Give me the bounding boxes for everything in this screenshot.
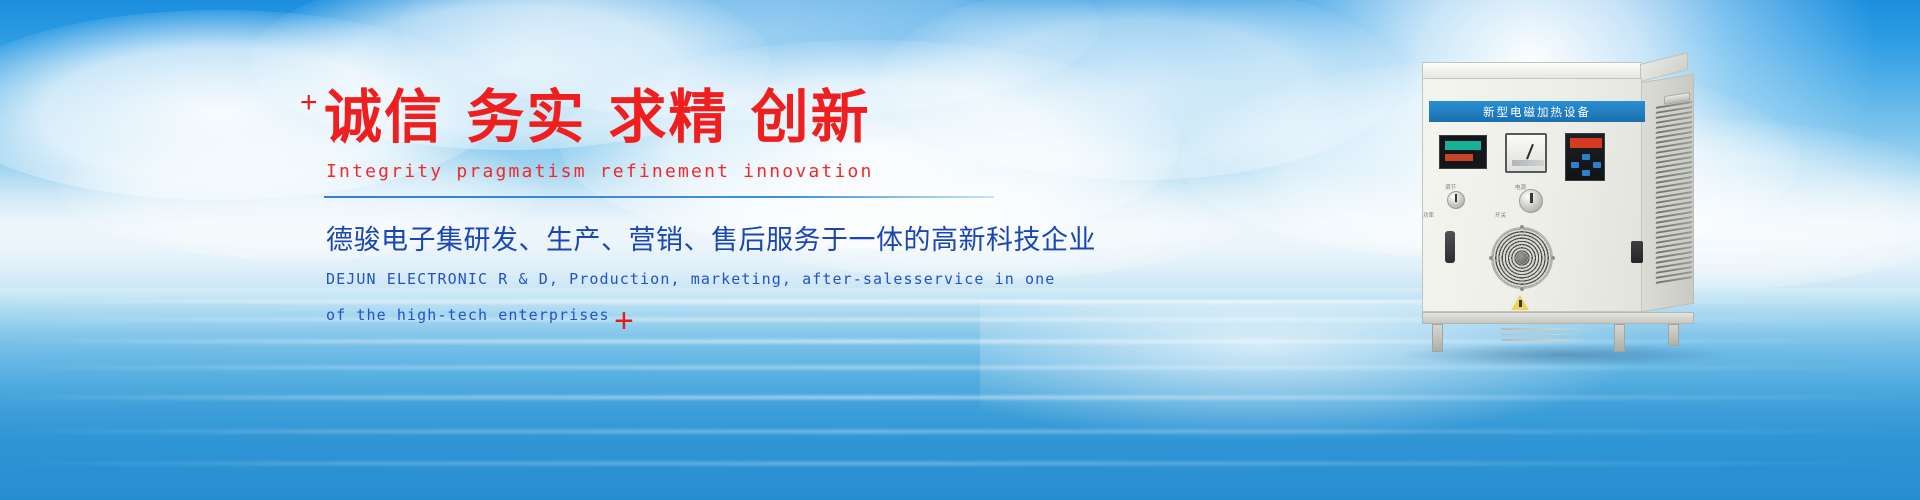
knob-label-top-left: 调节 — [1445, 183, 1456, 191]
keypad-down-button[interactable] — [1582, 170, 1590, 176]
cabinet-top-face — [1422, 62, 1642, 78]
keypad-control-panel[interactable] — [1565, 133, 1605, 181]
wave-line — [0, 396, 1920, 399]
cabinet-leg — [1614, 324, 1625, 352]
keypad-up-button[interactable] — [1582, 154, 1590, 160]
product-name-plate-label: 新型电磁加热设备 — [1483, 104, 1591, 120]
hero-banner: + + 诚信 务实 求精 创新 Integrity pragmatism ref… — [0, 0, 1920, 500]
headline-chinese: 诚信 务实 求精 创新 — [324, 86, 1018, 149]
cabinet-leg — [1668, 324, 1679, 346]
keypad-buttons[interactable] — [1571, 154, 1601, 178]
warning-triangle-label — [1511, 295, 1529, 310]
tagline-chinese: 德骏电子集研发、生产、营销、售后服务于一体的高新科技企业 — [326, 218, 1018, 257]
wave-line — [0, 462, 1920, 465]
controller-pv-digits — [1445, 141, 1481, 150]
door-latch[interactable] — [1631, 241, 1643, 263]
knob-row — [1447, 191, 1627, 217]
plus-marker-top: + — [300, 88, 318, 118]
headline-english: Integrity pragmatism refinement innovati… — [326, 161, 1018, 182]
knob-label-bottom-right: 开关 — [1495, 211, 1506, 219]
fan-screw — [1520, 287, 1524, 291]
product-name-plate: 新型电磁加热设备 — [1429, 101, 1645, 122]
tagline-english-line-2: of the high-tech enterprises — [326, 301, 1018, 330]
keypad-left-button[interactable] — [1571, 162, 1579, 168]
cabinet-front-panel: 新型电磁加热设备 — [1422, 78, 1642, 312]
cabinet-leg — [1432, 324, 1443, 352]
analog-meter — [1505, 133, 1547, 173]
knob-label-bottom-left: 功率 — [1423, 211, 1434, 219]
product-image-heating-cabinet: 新型电磁加热设备 — [1418, 62, 1718, 352]
keypad-right-button[interactable] — [1593, 162, 1601, 168]
wave-line — [0, 430, 1920, 433]
cabinet-side-panel — [1642, 74, 1694, 312]
control-row — [1439, 135, 1639, 181]
meter-scale — [1512, 160, 1544, 166]
controller-sv-digits — [1445, 154, 1473, 161]
fan-screw — [1489, 256, 1493, 260]
banner-copy-block: 诚信 务实 求精 创新 Integrity pragmatism refinem… — [318, 86, 1018, 330]
side-ventilation-louvers — [1656, 101, 1692, 287]
wave-line — [0, 366, 1920, 369]
door-handle[interactable] — [1445, 231, 1455, 263]
selector-knob[interactable] — [1447, 191, 1465, 209]
cooling-fan-grille — [1491, 227, 1553, 289]
fan-screw — [1520, 225, 1524, 229]
temperature-controller-display[interactable] — [1439, 135, 1487, 169]
divider-rule — [324, 196, 994, 198]
led-display — [1570, 138, 1602, 148]
power-knob[interactable] — [1519, 189, 1543, 213]
fan-screw — [1551, 256, 1555, 260]
fan-hub — [1516, 252, 1528, 264]
cabinet-base — [1422, 312, 1694, 324]
meter-needle — [1526, 144, 1533, 159]
tagline-english-line-1: DEJUN ELECTRONIC R & D, Production, mark… — [326, 265, 1018, 294]
